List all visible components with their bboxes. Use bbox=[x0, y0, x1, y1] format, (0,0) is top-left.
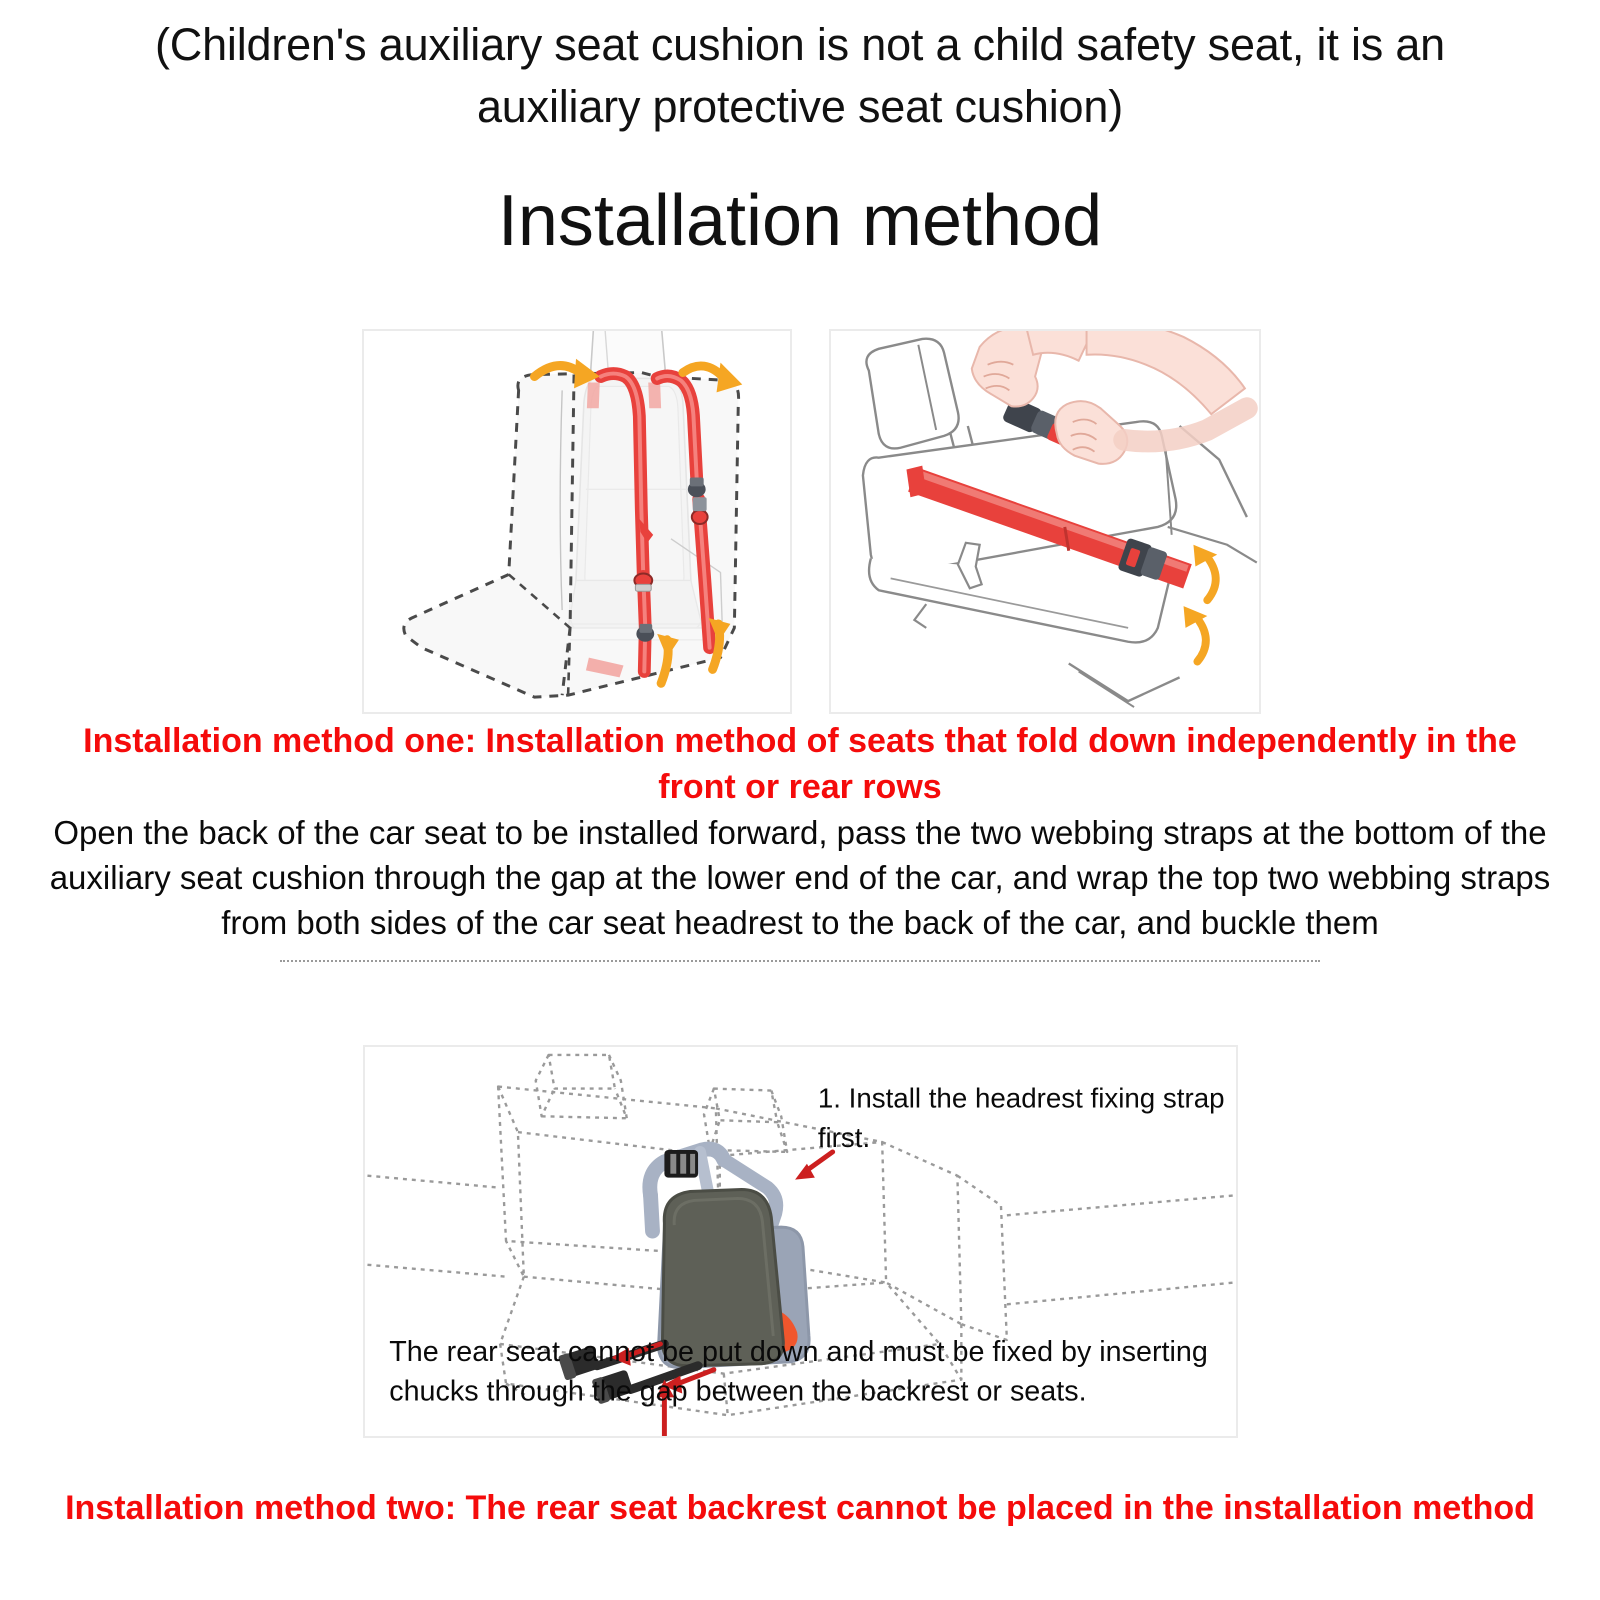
figure-buckling-frame bbox=[829, 329, 1261, 714]
hands-buckling-strap-diagram bbox=[831, 331, 1259, 712]
orange-arrow-icon bbox=[1195, 555, 1215, 662]
callout-bottom-note: The rear seat cannot be put down and mus… bbox=[389, 1332, 1211, 1411]
figure-folded-seat-frame bbox=[362, 329, 792, 714]
figure-rear-bench-frame: 1. Install the headrest fixing strap fir… bbox=[363, 1045, 1238, 1438]
disclaimer-text: (Children's auxiliary seat cushion is no… bbox=[90, 14, 1510, 138]
callout-step-one: 1. Install the headrest fixing strap fir… bbox=[818, 1079, 1234, 1158]
instruction-page: (Children's auxiliary seat cushion is no… bbox=[0, 0, 1600, 1600]
rear-bench-seat-installation-diagram: 1. Install the headrest fixing strap fir… bbox=[365, 1047, 1236, 1436]
method-one-heading: Installation method one: Installation me… bbox=[40, 718, 1560, 810]
method-two-heading: Installation method two: The rear seat b… bbox=[60, 1484, 1540, 1532]
method-one-body-text: Open the back of the car seat to be inst… bbox=[38, 810, 1562, 945]
page-title: Installation method bbox=[0, 178, 1600, 264]
section-divider bbox=[280, 960, 1320, 964]
folded-seat-with-straps-diagram bbox=[364, 331, 790, 712]
